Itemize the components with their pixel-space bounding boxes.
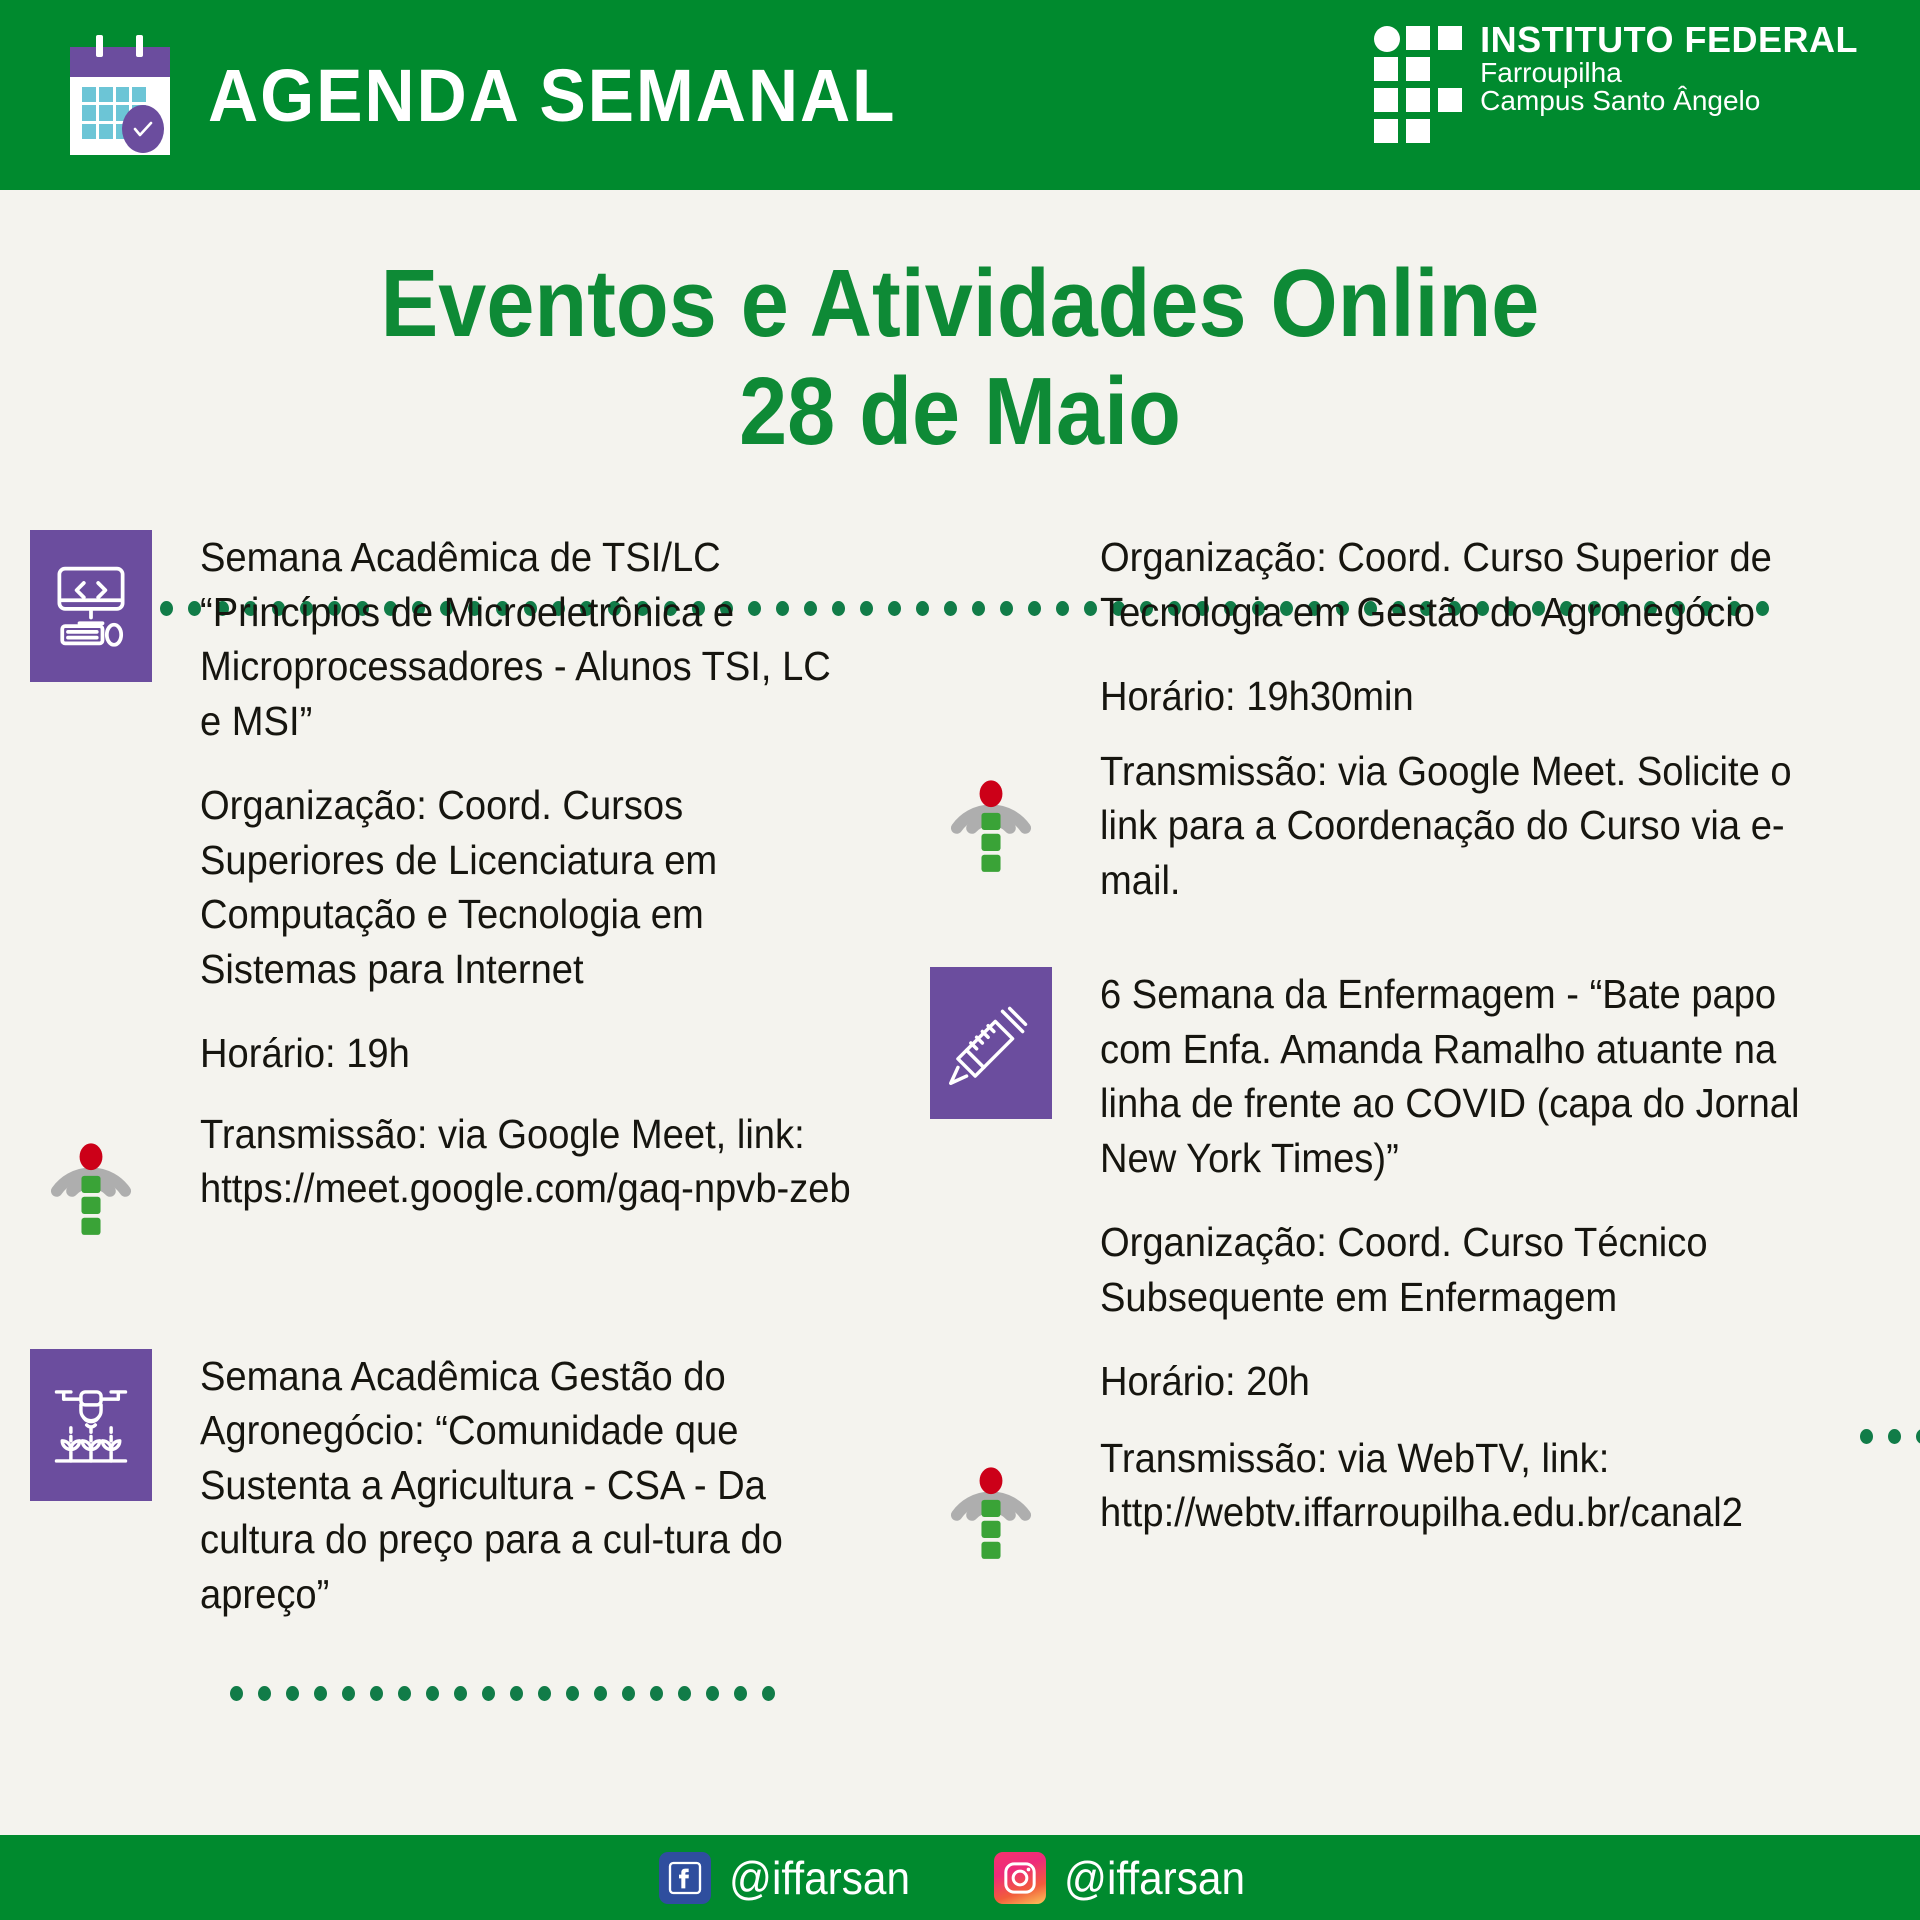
computer-code-icon	[30, 530, 152, 682]
left-column: Semana Acadêmica de TSI/LC “Princípios d…	[30, 530, 910, 1621]
page-footer: @iffarsan @iffarsan	[0, 1835, 1920, 1920]
event-text-enfermagem: 6 Semana da Enfermagem - “Bate papo com …	[1100, 967, 1835, 1409]
event-title: 6 Semana da Enfermagem - “Bate papo com …	[1100, 967, 1835, 1185]
instagram-link[interactable]: @iffarsan	[994, 1851, 1261, 1905]
event-organization: Organização: Coord. Cursos Superiores de…	[200, 778, 860, 996]
event-broadcast-text: Transmissão: via WebTV, link: http://web…	[1100, 1431, 1835, 1540]
facebook-link[interactable]: @iffarsan	[659, 1851, 926, 1905]
event-organization: Organização: Coord. Curso Superior de Te…	[1100, 530, 1835, 639]
event-time: Horário: 20h	[1100, 1354, 1835, 1409]
page-header: AGENDA SEMANAL INSTITUTO FEDERAL Farroup…	[0, 0, 1920, 190]
logo-line-1: INSTITUTO FEDERAL	[1480, 22, 1858, 59]
header-title: AGENDA SEMANAL	[208, 53, 896, 138]
event-text-agro-details: Organização: Coord. Curso Superior de Te…	[1100, 530, 1835, 724]
institution-logo: INSTITUTO FEDERAL Farroupilha Campus San…	[1374, 22, 1858, 144]
page-title-line-2: 28 de Maio	[96, 358, 1824, 466]
right-column: Organização: Coord. Curso Superior de Te…	[930, 530, 1890, 1561]
broadcast-signal-icon	[930, 744, 1052, 874]
instagram-icon[interactable]	[994, 1852, 1046, 1904]
event-title: Semana Acadêmica Gestão do Agronegócio: …	[200, 1349, 860, 1622]
agriculture-drone-icon	[30, 1349, 152, 1501]
page-title-line-1: Eventos e Atividades Online	[96, 250, 1824, 358]
event-block-agronegocio-details: Organização: Coord. Curso Superior de Te…	[930, 530, 1890, 907]
event-title: Semana Acadêmica de TSI/LC “Princípios d…	[200, 530, 860, 748]
if-logo-grid-icon	[1374, 26, 1466, 144]
logo-line-3: Campus Santo Ângelo	[1480, 87, 1858, 116]
page-title: Eventos e Atividades Online 28 de Maio	[96, 250, 1824, 467]
event-broadcast-text: Transmissão: via Google Meet. Solicite o…	[1100, 744, 1835, 908]
broadcast-signal-icon	[30, 1107, 152, 1237]
event-block-tsi-lc: Semana Acadêmica de TSI/LC “Princípios d…	[30, 530, 910, 1237]
calendar-check-icon	[70, 35, 170, 155]
event-block-agronegocio: Semana Acadêmica Gestão do Agronegócio: …	[30, 1349, 910, 1622]
event-broadcast-text: Transmissão: via Google Meet, link: http…	[200, 1107, 860, 1216]
syringe-icon	[930, 967, 1052, 1119]
facebook-handle[interactable]: @iffarsan	[729, 1851, 910, 1905]
broadcast-signal-icon	[930, 1431, 1052, 1561]
logo-line-2: Farroupilha	[1480, 59, 1858, 88]
event-block-enfermagem: 6 Semana da Enfermagem - “Bate papo com …	[930, 967, 1890, 1561]
event-organization: Organização: Coord. Curso Técnico Subseq…	[1100, 1215, 1835, 1324]
poster-canvas: AGENDA SEMANAL INSTITUTO FEDERAL Farroup…	[0, 0, 1920, 1920]
event-time: Horário: 19h30min	[1100, 669, 1835, 724]
event-text-agronegocio: Semana Acadêmica Gestão do Agronegócio: …	[200, 1349, 860, 1622]
divider-left	[230, 1685, 790, 1701]
facebook-icon[interactable]	[659, 1852, 711, 1904]
event-time: Horário: 19h	[200, 1026, 860, 1081]
instagram-handle[interactable]: @iffarsan	[1064, 1851, 1245, 1905]
event-text-tsi-lc: Semana Acadêmica de TSI/LC “Princípios d…	[200, 530, 860, 1081]
